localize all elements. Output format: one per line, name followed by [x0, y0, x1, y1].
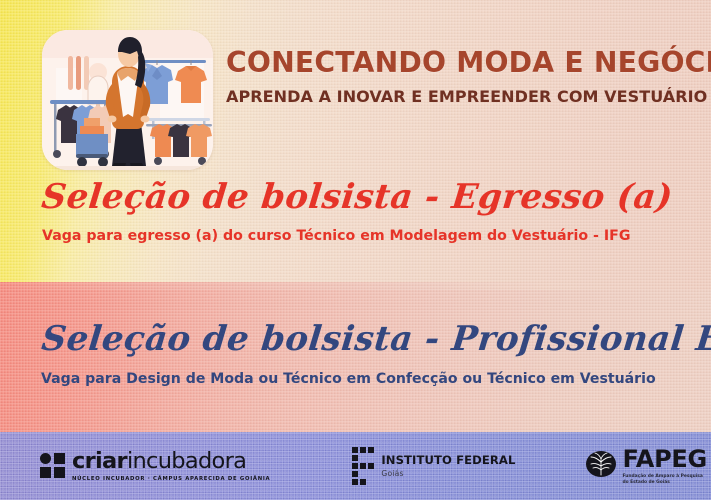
- offer-description-profissional-externo: Vaga para Design de Moda ou Técnico em C…: [41, 371, 692, 387]
- instituto-federal-name: INSTITUTO FEDERAL: [381, 455, 515, 467]
- criar-squares-icon: [40, 453, 65, 478]
- footer-logo-strip: criarincubadora NÚCLEO INCUBADOR · CÂMPU…: [0, 432, 711, 500]
- fapeg-tagline: Fundação de Amparo à Pesquisa do Estado …: [622, 474, 706, 486]
- instituto-federal-wordmark: INSTITUTO FEDERAL Goiás: [381, 455, 515, 477]
- header-text-block: CONECTANDO MODA E NEGÓCIOS APRENDA A INO…: [226, 48, 696, 106]
- criar-word-bold: criar: [72, 448, 127, 474]
- offer-title-profissional-externo: Seleção de bolsista - Profissional Exter…: [40, 322, 709, 356]
- poster-canvas: CONECTANDO MODA E NEGÓCIOS APRENDA A INO…: [0, 0, 711, 500]
- fapeg-wordmark: FAPEG Fundação de Amparo à Pesquisa do E…: [622, 447, 706, 486]
- page-title: CONECTANDO MODA E NEGÓCIOS: [226, 48, 691, 78]
- criar-tagline: NÚCLEO INCUBADOR · CÂMPUS APARECIDA DE G…: [72, 477, 270, 482]
- criar-wordmark: criarincubadora NÚCLEO INCUBADOR · CÂMPU…: [72, 450, 270, 482]
- logo-fapeg: FAPEG Fundação de Amparo à Pesquisa do E…: [585, 447, 706, 486]
- offer-title-egresso: Seleção de bolsista - Egresso (a): [40, 180, 709, 214]
- logo-instituto-federal: INSTITUTO FEDERAL Goiás: [352, 447, 515, 485]
- offer-block-egresso: Seleção de bolsista - Egresso (a) Vaga p…: [40, 180, 705, 244]
- offer-block-profissional-externo: Seleção de bolsista - Profissional Exter…: [40, 322, 705, 387]
- logo-criar-incubadora: criarincubadora NÚCLEO INCUBADOR · CÂMPU…: [40, 450, 270, 482]
- criar-word-light: incubadora: [127, 448, 246, 474]
- fapeg-name: FAPEG: [622, 447, 706, 471]
- page-subtitle: APRENDA A INOVAR E EMPREENDER COM VESTUÁ…: [226, 87, 689, 106]
- instituto-federal-squares-icon: [352, 447, 374, 485]
- fapeg-tagline-line-2: do Estado de Goiás: [622, 480, 706, 486]
- fashion-store-shopper-illustration: [42, 30, 213, 170]
- fapeg-tagline-line-1: Fundação de Amparo à Pesquisa: [622, 474, 706, 480]
- instituto-federal-state: Goiás: [381, 470, 515, 478]
- offer-description-egresso: Vaga para egresso (a) do curso Técnico e…: [42, 228, 695, 244]
- fapeg-brain-icon: [585, 450, 617, 483]
